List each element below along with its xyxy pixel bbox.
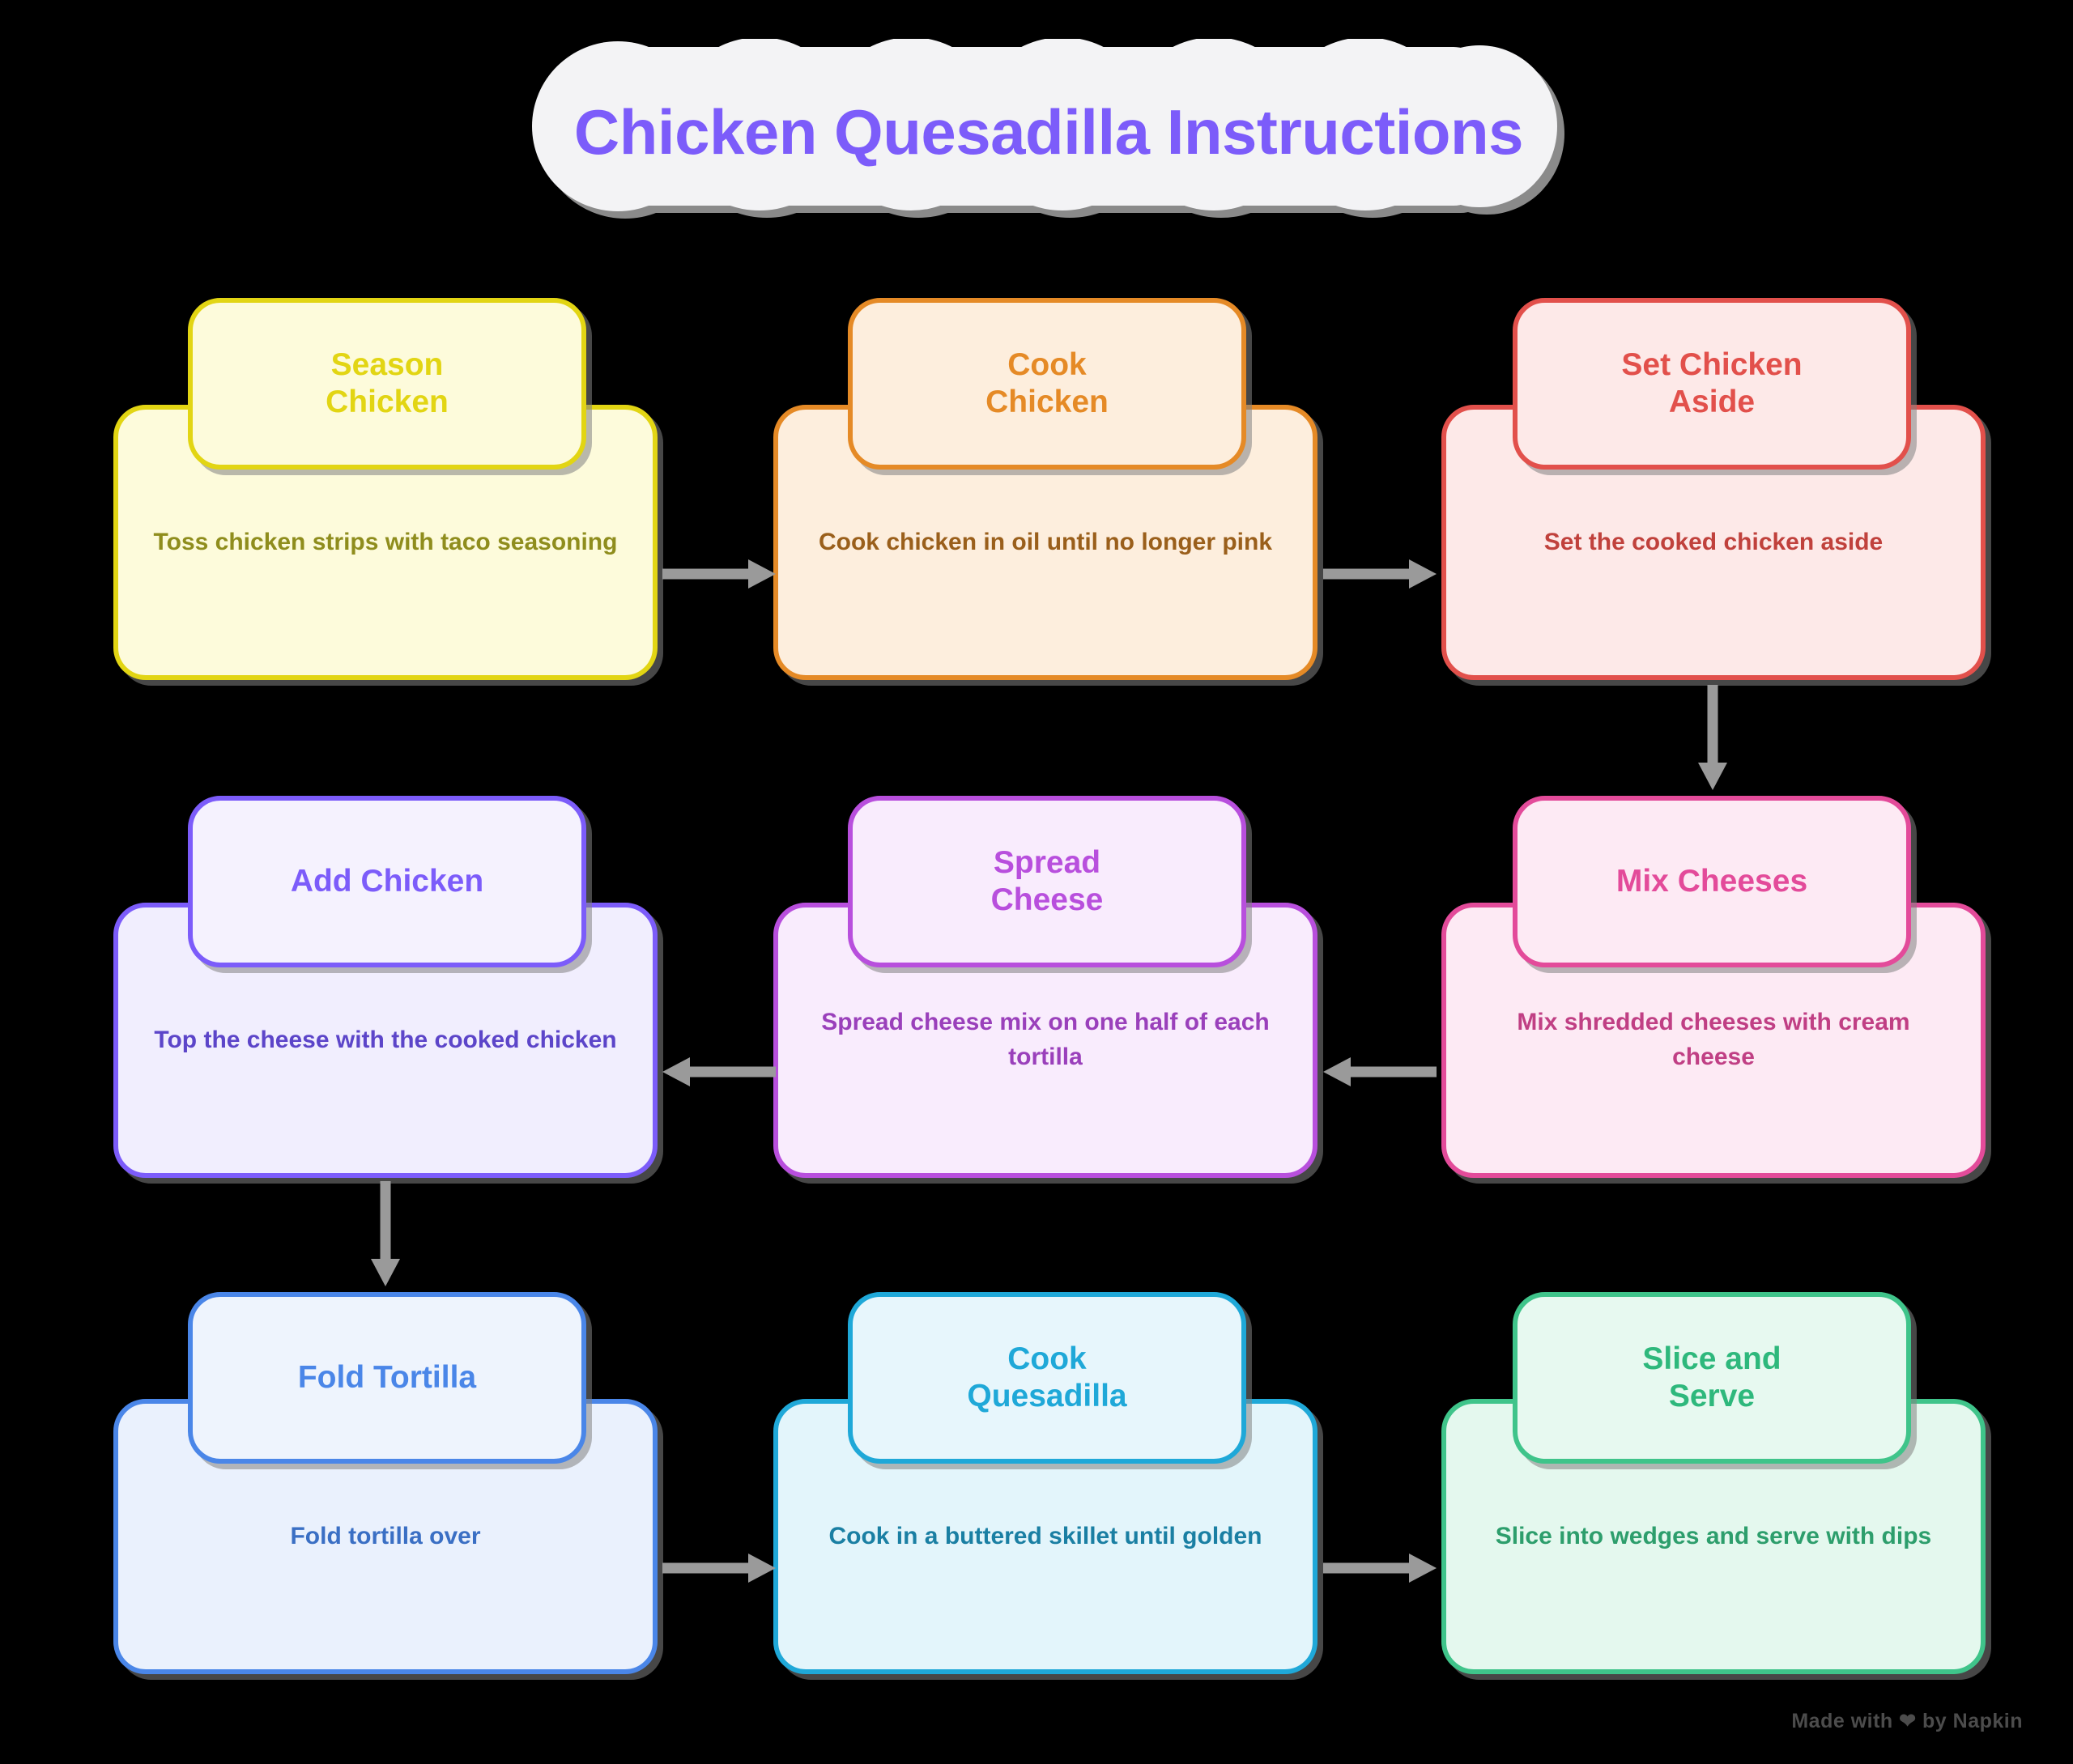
arrow-right-icon: [662, 552, 776, 596]
arrow-down-icon: [1691, 685, 1735, 790]
arrow-right-icon: [1323, 1546, 1437, 1590]
arrow-right-icon: [1323, 552, 1437, 596]
arrow-season-to-cook: [662, 552, 776, 596]
arrow-spread-to-add: [662, 1050, 776, 1094]
node-header-mix-cheeses: Mix Cheeses: [1513, 796, 1911, 967]
node-body-text: Top the cheese with the cooked chicken: [126, 1023, 644, 1058]
node-header-text: Fold Tortilla: [280, 1359, 494, 1396]
node-header-spread-cheese: SpreadCheese: [848, 796, 1246, 967]
node-header-text: Set ChickenAside: [1603, 346, 1820, 420]
node-header-text: SeasonChicken: [308, 346, 466, 420]
arrow-right-icon: [662, 1546, 776, 1590]
diagram-canvas: Chicken Quesadilla Instructions Toss chi…: [0, 0, 2073, 1764]
node-header-fold-tortilla: Fold Tortilla: [188, 1292, 586, 1464]
node-body-text: Slice into wedges and serve with dips: [1468, 1520, 1959, 1554]
node-header-text: SpreadCheese: [973, 844, 1122, 918]
node-body-text: Set the cooked chicken aside: [1517, 525, 1911, 560]
arrow-add-to-fold: [364, 1181, 407, 1286]
node-header-text: Add Chicken: [273, 863, 501, 900]
node-body-text: Mix shredded cheeses with cream cheese: [1446, 1005, 1981, 1074]
page-title: Chicken Quesadilla Instructions: [530, 39, 1567, 225]
arrow-set-aside-to-mix: [1691, 685, 1735, 790]
arrow-cook-quesadilla-to-slice: [1323, 1546, 1437, 1590]
node-header-cook-chicken: CookChicken: [848, 298, 1246, 470]
node-header-text: Slice andServe: [1624, 1341, 1798, 1414]
node-body-text: Spread cheese mix on one half of each to…: [778, 1005, 1313, 1074]
node-header-slice-and-serve: Slice andServe: [1513, 1292, 1911, 1464]
node-header-add-chicken: Add Chicken: [188, 796, 586, 967]
node-body-text: Fold tortilla over: [262, 1520, 508, 1554]
node-body-text: Toss chicken strips with taco seasoning: [126, 525, 645, 560]
node-header-set-chicken-aside: Set ChickenAside: [1513, 298, 1911, 470]
node-header-text: CookChicken: [968, 346, 1126, 420]
arrow-left-icon: [1323, 1050, 1437, 1094]
arrow-cook-to-set-aside: [1323, 552, 1437, 596]
node-body-text: Cook in a buttered skillet until golden: [801, 1520, 1289, 1554]
node-body-text: Cook chicken in oil until no longer pink: [791, 525, 1300, 560]
arrow-mix-to-spread: [1323, 1050, 1437, 1094]
arrow-fold-to-cook-quesadilla: [662, 1546, 776, 1590]
node-header-text: Mix Cheeses: [1598, 863, 1825, 900]
node-header-season-chicken: SeasonChicken: [188, 298, 586, 470]
arrow-left-icon: [662, 1050, 776, 1094]
node-header-cook-quesadilla: CookQuesadilla: [848, 1292, 1246, 1464]
watermark-label: Made with ❤ by Napkin: [1791, 1709, 2023, 1733]
diagram-title: Chicken Quesadilla Instructions: [530, 39, 1567, 225]
node-header-text: CookQuesadilla: [949, 1341, 1144, 1414]
arrow-down-icon: [364, 1181, 407, 1286]
